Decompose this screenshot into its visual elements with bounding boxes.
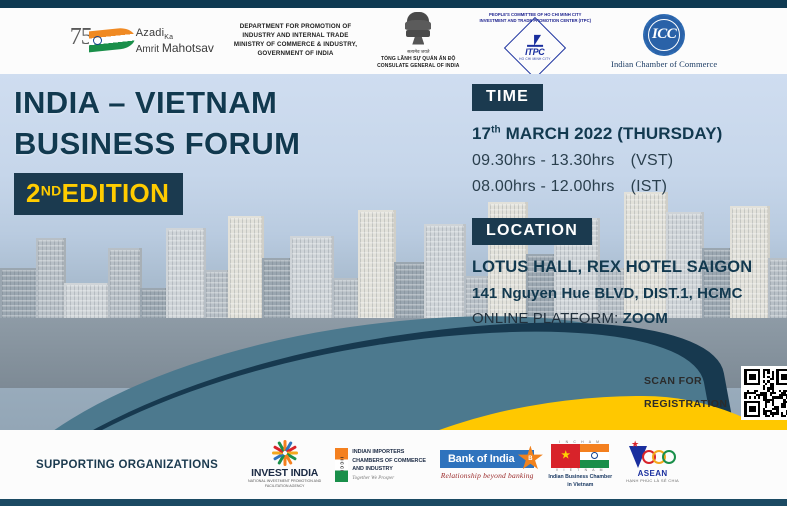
time-vst-zone: (VST) bbox=[631, 152, 674, 169]
bank-of-india-badge: Bank of India B bbox=[440, 450, 534, 468]
location-block: LOCATION LOTUS HALL, REX HOTEL SAIGON 14… bbox=[472, 218, 752, 327]
event-info-block: TIME 17th MARCH 2022 (THURSDAY) 09.30hrs… bbox=[472, 84, 752, 327]
headline-line-2: BUSINESS FORUM bbox=[14, 123, 300, 164]
time-vst-row: 09.30hrs - 13.30hrs(VST) bbox=[472, 152, 752, 170]
edition-word: EDITION bbox=[62, 178, 170, 208]
edition-ordinal-suffix: ND bbox=[41, 183, 62, 199]
invest-india-subtitle: NATIONAL INVESTMENT PROMOTION AND FACILI… bbox=[248, 479, 321, 489]
asean-rings-icon bbox=[646, 450, 676, 464]
iicci-tagline: Together We Prosper bbox=[352, 476, 426, 481]
india-vietnam-business-forum-poster: 75 AzadiKa Amrit Mahotsav DEPARTMENT FOR… bbox=[0, 0, 787, 506]
icc-caption: Indian Chamber of Commerce bbox=[611, 59, 717, 69]
bottom-rule bbox=[0, 499, 787, 506]
scan-for-registration-label: SCAN FOR REGISTRATION bbox=[644, 370, 727, 416]
date-day: 17 bbox=[472, 124, 491, 143]
ibcv-caption: Indian Business Chamber in Vietnam bbox=[548, 474, 612, 490]
ibcv-bottom-ring-text: V I E T N A M bbox=[556, 468, 605, 472]
event-date: 17th MARCH 2022 (THURSDAY) bbox=[472, 124, 752, 144]
edition-number: 2 bbox=[26, 178, 41, 208]
bank-of-india-wordmark: Bank of India bbox=[448, 453, 514, 465]
consulate-text: TỔNG LÃNH SỰ QUÁN ẤN ĐỘ CONSULATE GENERA… bbox=[377, 56, 459, 71]
vietnam-india-flags-icon: ★ bbox=[551, 444, 609, 468]
iicci-title: INDIAN IMPORTERS CHAMBERS OF COMMERCE AN… bbox=[352, 448, 426, 473]
dpiit-logo: DEPARTMENT FOR PROMOTION OF INDUSTRY AND… bbox=[234, 23, 357, 59]
registration-qr-code[interactable] bbox=[741, 366, 787, 420]
amrit-word: Amrit bbox=[136, 44, 159, 55]
date-month-year: MARCH 2022 (THURSDAY) bbox=[501, 124, 723, 143]
time-tag: TIME bbox=[472, 84, 543, 111]
date-ordinal-suffix: th bbox=[491, 124, 501, 135]
indian-flag-icon bbox=[89, 27, 135, 53]
itpc-city-text: HO CHI MINH CITY bbox=[519, 57, 551, 61]
online-platform-value: ZOOM bbox=[623, 310, 668, 327]
asean-tagline: HẠNH PHÚC LÀ SẺ CHIA bbox=[626, 478, 679, 483]
azadi-wordmark: AzadiKa Amrit Mahotsav bbox=[136, 27, 214, 54]
asean-star-icon: ★ bbox=[631, 440, 639, 449]
icc-seal-icon: ICC bbox=[643, 14, 685, 56]
satyameva-jayate-motto: सत्यमेव जयते bbox=[407, 49, 429, 55]
time-vst-range: 09.30hrs - 13.30hrs bbox=[472, 152, 615, 169]
iicci-logo: IICCI INDIAN IMPORTERS CHAMBERS OF COMME… bbox=[335, 448, 426, 482]
online-platform-label: ONLINE PLATFORM: bbox=[472, 310, 623, 327]
mahotsav-word: Mahotsav bbox=[162, 41, 214, 55]
consulate-general-of-india-logo: सत्यमेव जयते TỔNG LÃNH SỰ QUÁN ẤN ĐỘ CON… bbox=[377, 12, 459, 71]
bank-of-india-logo: Bank of India B Relationship beyond bank… bbox=[440, 450, 534, 480]
itpc-wordmark: ITPC bbox=[526, 47, 545, 57]
icc-wordmark: ICC bbox=[652, 26, 676, 43]
itpc-logo: PEOPLE'S COMMITTEE OF HO CHI MINH CITY I… bbox=[480, 12, 592, 70]
time-ist-row: 08.00hrs - 12.00hrs(IST) bbox=[472, 178, 752, 196]
invest-india-sunburst-icon bbox=[272, 440, 298, 466]
indian-business-chamber-vietnam-logo: I N C H A M ★ V I E T N A M Indian Busin… bbox=[548, 440, 612, 490]
venue-address: 141 Nguyen Hue BLVD, DIST.1, HCMC bbox=[472, 285, 752, 302]
time-ist-range: 08.00hrs - 12.00hrs bbox=[472, 178, 615, 195]
time-ist-zone: (IST) bbox=[631, 178, 668, 195]
bank-of-india-star-icon: B bbox=[517, 446, 543, 472]
iicci-flag-bar-icon: IICCI bbox=[335, 448, 348, 482]
venue-name: LOTUS HALL, REX HOTEL SAIGON bbox=[472, 258, 752, 277]
header-logo-strip: 75 AzadiKa Amrit Mahotsav DEPARTMENT FOR… bbox=[0, 8, 787, 74]
top-rule bbox=[0, 0, 787, 8]
dpiit-text: DEPARTMENT FOR PROMOTION OF INDUSTRY AND… bbox=[234, 23, 357, 59]
itpc-sail-icon bbox=[527, 35, 543, 47]
asean-mark-icon: ★ bbox=[629, 446, 676, 468]
azadi-word: Azadi bbox=[136, 27, 165, 39]
headline-block: INDIA – VIETNAM BUSINESS FORUM 2NDEDITIO… bbox=[14, 82, 300, 215]
iicci-bar-text: IICCI bbox=[339, 457, 344, 472]
invest-india-wordmark: INVEST INDIA bbox=[251, 467, 318, 479]
itpc-diamond-icon: ITPC HO CHI MINH CITY bbox=[504, 17, 566, 79]
azadi-ka-amrit-mahotsav-logo: 75 AzadiKa Amrit Mahotsav bbox=[70, 27, 214, 54]
invest-india-logo: INVEST INDIA NATIONAL INVESTMENT PROMOTI… bbox=[248, 440, 321, 489]
asean-wordmark: ASEAN bbox=[638, 469, 668, 478]
headline-line-1: INDIA – VIETNAM bbox=[14, 82, 300, 123]
supporting-organizations-label: SUPPORTING ORGANIZATIONS bbox=[36, 459, 218, 471]
bank-of-india-tagline: Relationship beyond banking bbox=[441, 471, 534, 480]
asean-logo: ★ ASEAN HẠNH PHÚC LÀ SẺ CHIA bbox=[626, 446, 679, 483]
edition-badge: 2NDEDITION bbox=[14, 173, 183, 215]
indian-chamber-of-commerce-logo: ICC Indian Chamber of Commerce bbox=[611, 14, 717, 69]
location-tag: LOCATION bbox=[472, 218, 592, 245]
online-platform-row: ONLINE PLATFORM: ZOOM bbox=[472, 310, 752, 327]
ashoka-emblem-icon bbox=[403, 12, 433, 48]
scan-registration-block[interactable]: SCAN FOR REGISTRATION bbox=[644, 366, 787, 420]
supporting-organizations-footer: SUPPORTING ORGANIZATIONS INVEST INDIA NA… bbox=[0, 430, 787, 499]
bank-of-india-star-letter: B bbox=[528, 456, 532, 462]
